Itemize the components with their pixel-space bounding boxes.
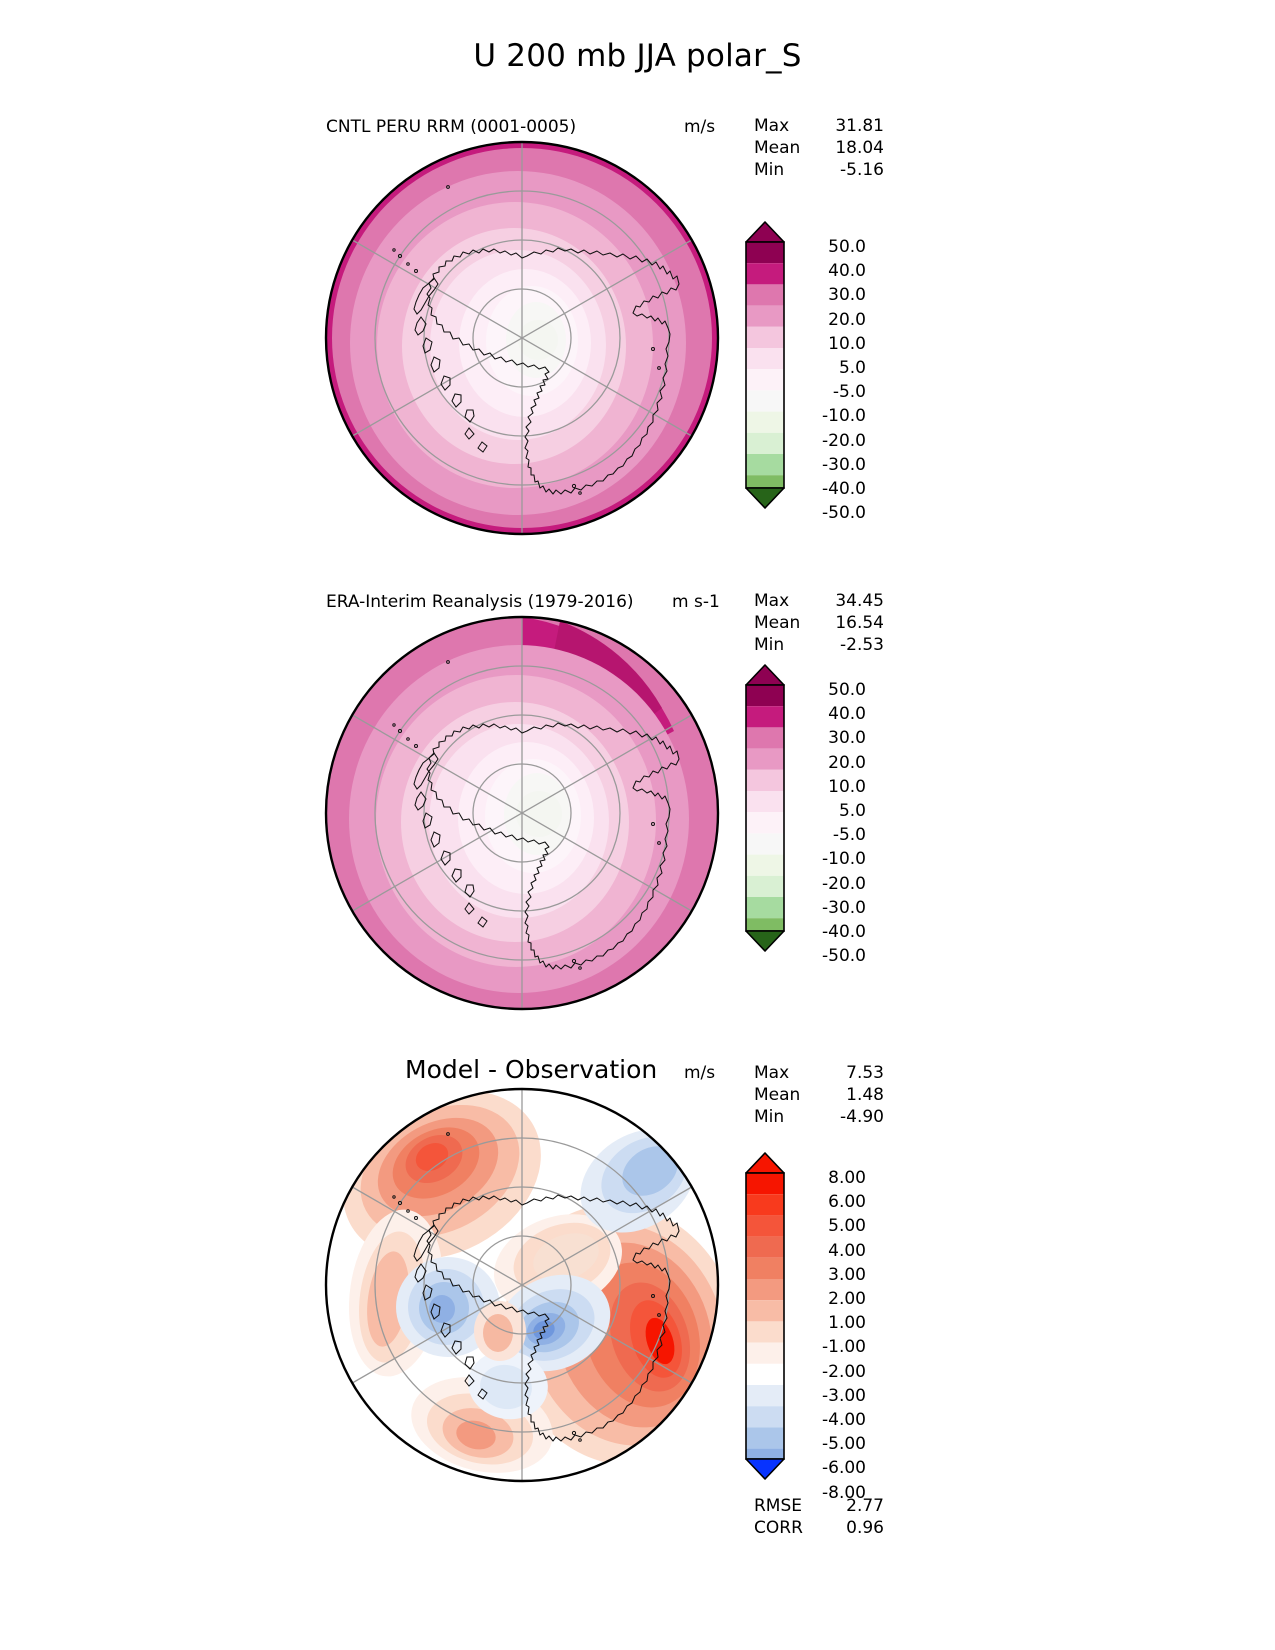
colorbar-tick: 10.0: [802, 775, 866, 799]
colorbar-tick: 50.0: [802, 678, 866, 702]
colorbar-swatches: [746, 222, 784, 508]
score-metrics: RMSE 2.77 CORR 0.96: [754, 1495, 884, 1539]
colorbar-tick: 10.0: [802, 332, 866, 356]
colorbar-tick: -30.0: [802, 896, 866, 920]
colorbar-tick: -1.00: [802, 1335, 866, 1359]
score-value: 0.96: [846, 1517, 884, 1539]
colorbar-tick: 1.00: [802, 1311, 866, 1335]
stat-row: Min -4.90: [754, 1106, 884, 1128]
stat-row: Mean 18.04: [754, 137, 884, 159]
stat-label: Max: [754, 590, 789, 612]
colorbar-tick: 50.0: [802, 235, 866, 259]
colorbar-tick: 40.0: [802, 259, 866, 283]
panel-title: ERA-Interim Reanalysis (1979-2016): [326, 592, 634, 612]
stat-value: -4.90: [840, 1106, 884, 1128]
colorbar-tick: 20.0: [802, 308, 866, 332]
stat-value: 16.54: [835, 612, 884, 634]
stat-value: 31.81: [835, 115, 884, 137]
colorbar-tick: 40.0: [802, 702, 866, 726]
colorbar-tick: -3.00: [802, 1384, 866, 1408]
panel-header: Model - Observation m/s Max 7.53 Mean 1.…: [0, 1055, 1275, 1089]
score-label: RMSE: [754, 1495, 802, 1517]
colorbar-tick: -20.0: [802, 872, 866, 896]
stat-value: -5.16: [840, 159, 884, 181]
colorbar-tick: -20.0: [802, 429, 866, 453]
stat-row: Min -5.16: [754, 159, 884, 181]
colorbar-tick: 3.00: [802, 1263, 866, 1287]
panel-units: m/s: [684, 117, 715, 137]
colorbar-tick: -6.00: [802, 1456, 866, 1480]
stat-row: Min -2.53: [754, 634, 884, 656]
colorbar-tick: 5.0: [802, 356, 866, 380]
panel-title: CNTL PERU RRM (0001-0005): [326, 117, 576, 137]
score-label: CORR: [754, 1517, 803, 1539]
colorbar-tick: -30.0: [802, 453, 866, 477]
colorbar-model[interactable]: [742, 220, 788, 514]
colorbar-swatches: [746, 665, 784, 951]
stat-value: 7.53: [846, 1062, 884, 1084]
colorbar-tick: 5.00: [802, 1214, 866, 1238]
panel-model: CNTL PERU RRM (0001-0005) m/s Max 31.81 …: [0, 110, 1275, 144]
colorbar-tick: -40.0: [802, 920, 866, 944]
score-row: CORR 0.96: [754, 1517, 884, 1539]
stat-label: Min: [754, 1106, 784, 1128]
colorbar-tick: 20.0: [802, 751, 866, 775]
colorbar-tick: -5.00: [802, 1432, 866, 1456]
colorbar-tick: -10.0: [802, 847, 866, 871]
colorbar-tick: 2.00: [802, 1287, 866, 1311]
figure-canvas: U 200 mb JJA polar_S: [0, 0, 1275, 1650]
colorbar-tick: -5.0: [802, 823, 866, 847]
page-title: U 200 mb JJA polar_S: [0, 38, 1275, 74]
colorbar-tick-labels: 50.0 40.0 30.0 20.0 10.0 5.0 -5.0 -10.0 …: [802, 678, 866, 968]
colorbar-tick-labels: 8.00 6.00 5.00 4.00 3.00 2.00 1.00 -1.00…: [802, 1166, 866, 1505]
colorbar-tick: -40.0: [802, 477, 866, 501]
colorbar-tick: 4.00: [802, 1239, 866, 1263]
colorbar-tick: -10.0: [802, 404, 866, 428]
colorbar-difference[interactable]: [742, 1151, 788, 1485]
colorbar-tick: 30.0: [802, 726, 866, 750]
polar-map-difference: [322, 1085, 722, 1489]
stat-label: Max: [754, 1062, 789, 1084]
stat-row: Mean 1.48: [754, 1084, 884, 1106]
stat-label: Mean: [754, 1084, 800, 1106]
stat-label: Mean: [754, 612, 800, 634]
stat-value: -2.53: [840, 634, 884, 656]
panel-observation: ERA-Interim Reanalysis (1979-2016) m s-1…: [0, 585, 1275, 619]
stat-row: Max 7.53: [754, 1062, 884, 1084]
colorbar-tick: 8.00: [802, 1166, 866, 1190]
stat-value: 18.04: [835, 137, 884, 159]
colorbar-tick: 6.00: [802, 1190, 866, 1214]
score-value: 2.77: [846, 1495, 884, 1517]
stat-label: Max: [754, 115, 789, 137]
colorbar-tick: -2.00: [802, 1360, 866, 1384]
panel-title: Model - Observation: [405, 1055, 657, 1084]
colorbar-tick-labels: 50.0 40.0 30.0 20.0 10.0 5.0 -5.0 -10.0 …: [802, 235, 866, 525]
stat-label: Min: [754, 159, 784, 181]
stat-value: 34.45: [835, 590, 884, 612]
colorbar-tick: -50.0: [802, 501, 866, 525]
stat-value: 1.48: [846, 1084, 884, 1106]
colorbar-tick: 5.0: [802, 799, 866, 823]
stat-row: Mean 16.54: [754, 612, 884, 634]
colorbar-tick: -50.0: [802, 944, 866, 968]
colorbar-tick: -4.00: [802, 1408, 866, 1432]
polar-map-model: [322, 138, 722, 542]
colorbar-tick: 30.0: [802, 283, 866, 307]
panel-units: m/s: [684, 1063, 715, 1083]
polar-map-observation: [322, 613, 722, 1017]
stat-label: Mean: [754, 137, 800, 159]
panel-statistics: Max 34.45 Mean 16.54 Min -2.53: [754, 590, 884, 656]
panel-difference: Model - Observation m/s Max 7.53 Mean 1.…: [0, 1055, 1275, 1089]
colorbar-swatches: [746, 1153, 784, 1479]
panel-statistics: Max 7.53 Mean 1.48 Min -4.90: [754, 1062, 884, 1128]
panel-statistics: Max 31.81 Mean 18.04 Min -5.16: [754, 115, 884, 181]
colorbar-tick: -5.0: [802, 380, 866, 404]
colorbar-observation[interactable]: [742, 663, 788, 957]
stat-label: Min: [754, 634, 784, 656]
stat-row: Max 34.45: [754, 590, 884, 612]
panel-units: m s-1: [672, 592, 720, 612]
score-row: RMSE 2.77: [754, 1495, 884, 1517]
stat-row: Max 31.81: [754, 115, 884, 137]
